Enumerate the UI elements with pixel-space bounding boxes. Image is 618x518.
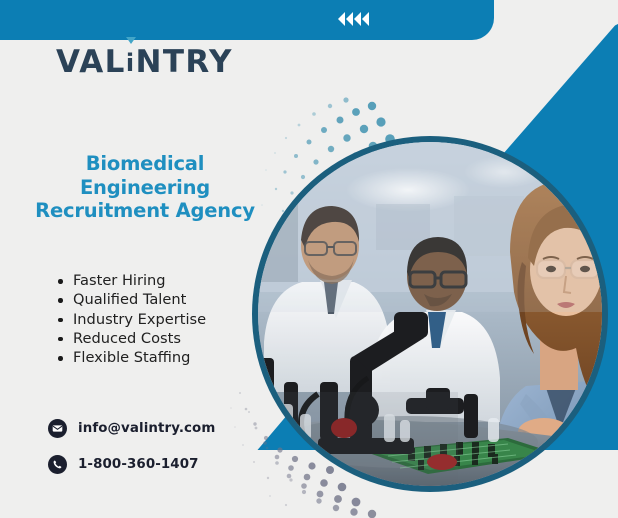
chevron-left-icon xyxy=(362,12,369,26)
logo-i-stem: i xyxy=(126,49,136,77)
envelope-icon xyxy=(48,419,67,438)
contact-email-row[interactable]: info@valintry.com xyxy=(48,415,215,441)
logo-letter-i: i xyxy=(126,47,136,78)
chevron-left-icon xyxy=(354,12,361,26)
brand-logo: VALiNTRY xyxy=(56,47,233,78)
contact-block: info@valintry.com 1-800-360-1407 xyxy=(48,415,215,487)
logo-prefix: VAL xyxy=(56,44,126,80)
logo-triangle-dot-icon xyxy=(126,37,136,44)
promotional-poster: VALiNTRY Biomedical Engineering Recruitm… xyxy=(0,0,618,518)
benefits-list: Faster Hiring Qualified Talent Industry … xyxy=(56,271,206,367)
email-value: info@valintry.com xyxy=(78,421,215,436)
headline-line-3: Recruitment Agency xyxy=(14,199,276,223)
headline-line-2: Engineering xyxy=(14,176,276,200)
phone-icon xyxy=(48,455,67,474)
list-item: Flexible Staffing xyxy=(56,348,206,367)
list-item: Industry Expertise xyxy=(56,310,206,329)
headline-line-1: Biomedical xyxy=(14,152,276,176)
list-item: Reduced Costs xyxy=(56,329,206,348)
lab-team-photo xyxy=(258,142,602,486)
page-title: Biomedical Engineering Recruitment Agenc… xyxy=(14,152,276,223)
list-item: Faster Hiring xyxy=(56,271,206,290)
chevron-left-icon xyxy=(346,12,353,26)
chevron-left-icon xyxy=(338,12,345,26)
logo-suffix: NTRY xyxy=(135,44,232,80)
chevron-group xyxy=(338,12,369,26)
list-item: Qualified Talent xyxy=(56,290,206,309)
phone-value: 1-800-360-1407 xyxy=(78,457,199,472)
photo-circle-ring xyxy=(252,136,608,492)
contact-phone-row[interactable]: 1-800-360-1407 xyxy=(48,451,215,477)
header-band xyxy=(0,0,494,40)
